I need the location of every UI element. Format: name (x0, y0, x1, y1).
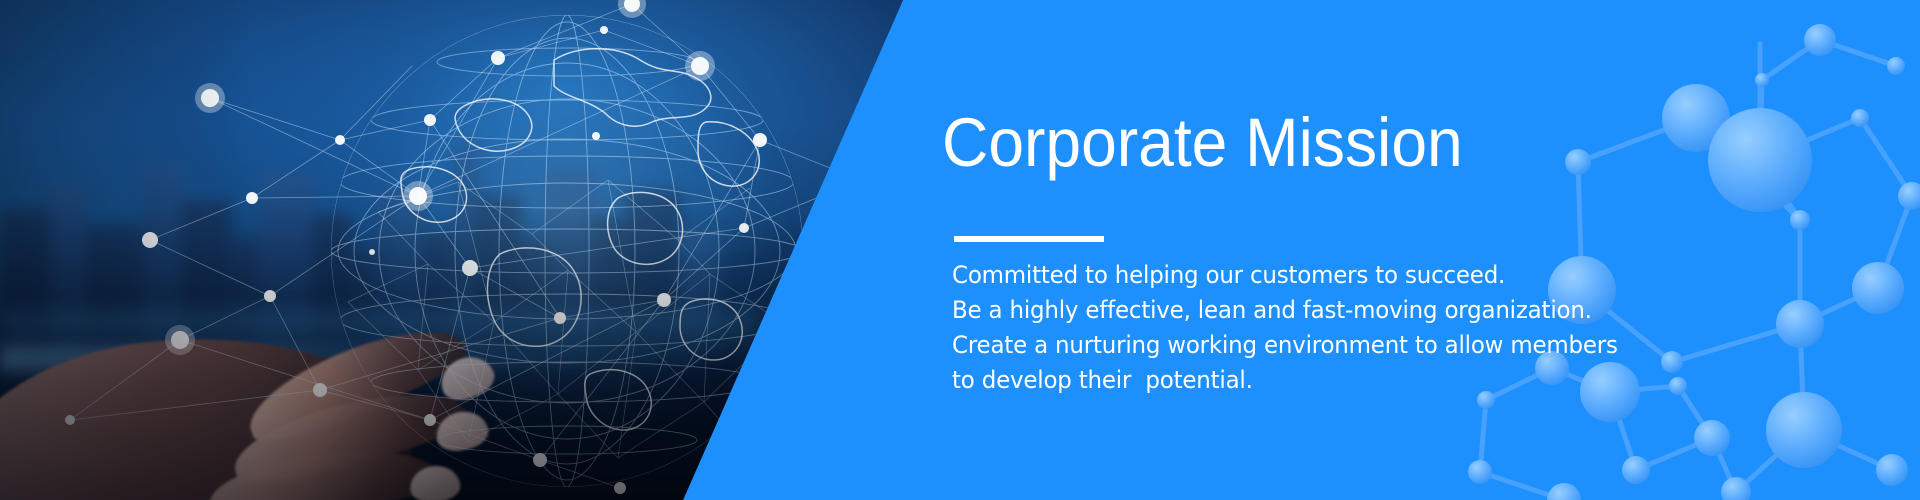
photo-vignette (0, 0, 910, 500)
page-title: Corporate Mission (942, 108, 1463, 177)
mission-statement: Committed to helping our customers to su… (952, 258, 1712, 398)
mission-line-3: Create a nurturing working environment t… (952, 328, 1678, 363)
text-panel: Corporate Mission Committed to helping o… (942, 0, 1722, 500)
corporate-mission-banner: Corporate Mission Committed to helping o… (0, 0, 1920, 500)
title-divider (954, 236, 1104, 242)
mission-line-1: Committed to helping our customers to su… (952, 258, 1678, 293)
mission-line-2: Be a highly effective, lean and fast-mov… (952, 293, 1678, 328)
mission-line-4: to develop their potential. (952, 363, 1678, 398)
hero-photo (0, 0, 910, 500)
